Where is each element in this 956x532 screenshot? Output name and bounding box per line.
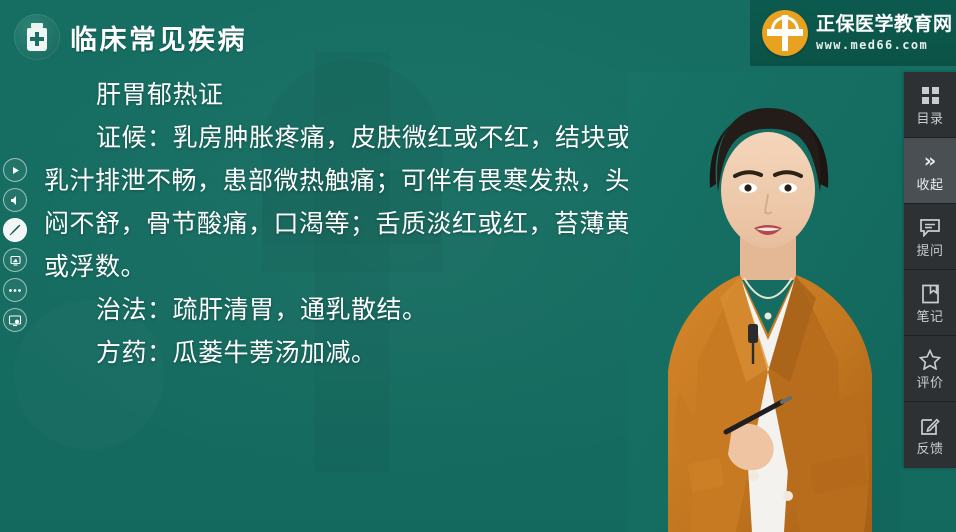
- pointer-icon: [9, 254, 22, 267]
- speech-bubble-icon: [919, 217, 941, 239]
- slide-prescription: 方药：瓜蒌牛蒡汤加减。: [44, 332, 724, 375]
- star-icon: [919, 349, 941, 371]
- play-button[interactable]: [3, 158, 27, 182]
- header: 临床常见疾病 正保医学教育网 www.med66.com: [0, 0, 956, 70]
- player-tool-rail: [2, 158, 28, 332]
- tool-sidebar: 目录 » 收起 提问 笔记: [904, 72, 956, 468]
- screen-share-button[interactable]: [3, 308, 27, 332]
- slide-line-4: 或浮数。: [44, 246, 724, 289]
- notebook-icon: [921, 283, 940, 305]
- page-title: 临床常见疾病: [70, 18, 247, 57]
- volume-button[interactable]: [3, 188, 27, 212]
- slide-content: 肝胃郁热证 证候：乳房肿胀疼痛，皮肤微红或不红，结块或有或无， 乳汁排泄不畅，患…: [44, 74, 724, 375]
- speaker-icon: [9, 195, 21, 206]
- med66-cross-logo-icon: [762, 10, 808, 56]
- presenter-video: [628, 72, 900, 532]
- slide-treatment: 治法：疏肝清胃，通乳散结。: [44, 289, 724, 332]
- pen-tool-button[interactable]: [3, 218, 27, 242]
- sidebar-item-ask[interactable]: 提问: [904, 204, 956, 270]
- sidebar-item-rating-label: 评价: [916, 376, 943, 389]
- slide-line-2: 乳汁排泄不畅，患部微热触痛；可伴有畏寒发热，头痛，胸: [44, 160, 724, 203]
- sidebar-item-rating[interactable]: 评价: [904, 336, 956, 402]
- ellipsis-icon: [8, 288, 22, 293]
- pointer-tool-button[interactable]: [3, 248, 27, 272]
- slide-line-3: 闷不舒，骨节酸痛，口渴等；舌质淡红或红，苔薄黄，脉弦: [44, 203, 724, 246]
- sidebar-item-ask-label: 提问: [916, 244, 943, 257]
- chevron-right-double-icon: »: [924, 151, 936, 173]
- pen-icon: [8, 223, 22, 237]
- edit-pencil-icon: [920, 415, 940, 437]
- sidebar-item-notes-label: 笔记: [916, 310, 943, 323]
- presenter-figure: [628, 72, 900, 532]
- sidebar-item-feedback[interactable]: 反馈: [904, 402, 956, 468]
- lecture-player: 临床常见疾病 正保医学教育网 www.med66.com 肝胃郁热证 证候：乳房…: [0, 0, 956, 532]
- sidebar-item-catalog[interactable]: 目录: [904, 72, 956, 138]
- sidebar-item-collapse[interactable]: » 收起: [904, 138, 956, 204]
- sidebar-item-catalog-label: 目录: [916, 112, 943, 125]
- grid-icon: [922, 85, 939, 107]
- sidebar-item-collapse-label: 收起: [916, 178, 943, 191]
- logo-url: www.med66.com: [816, 38, 953, 52]
- slide-heading: 肝胃郁热证: [44, 74, 724, 117]
- slide-line-1: 证候：乳房肿胀疼痛，皮肤微红或不红，结块或有或无，: [44, 117, 724, 160]
- medicine-bottle-icon: [14, 14, 60, 60]
- logo-name: 正保医学教育网: [816, 14, 953, 35]
- site-logo: 正保医学教育网 www.med66.com: [750, 0, 956, 66]
- sidebar-item-notes[interactable]: 笔记: [904, 270, 956, 336]
- play-icon: [10, 165, 21, 176]
- more-options-button[interactable]: [3, 278, 27, 302]
- sidebar-item-feedback-label: 反馈: [916, 442, 943, 455]
- monitor-icon: [8, 314, 22, 327]
